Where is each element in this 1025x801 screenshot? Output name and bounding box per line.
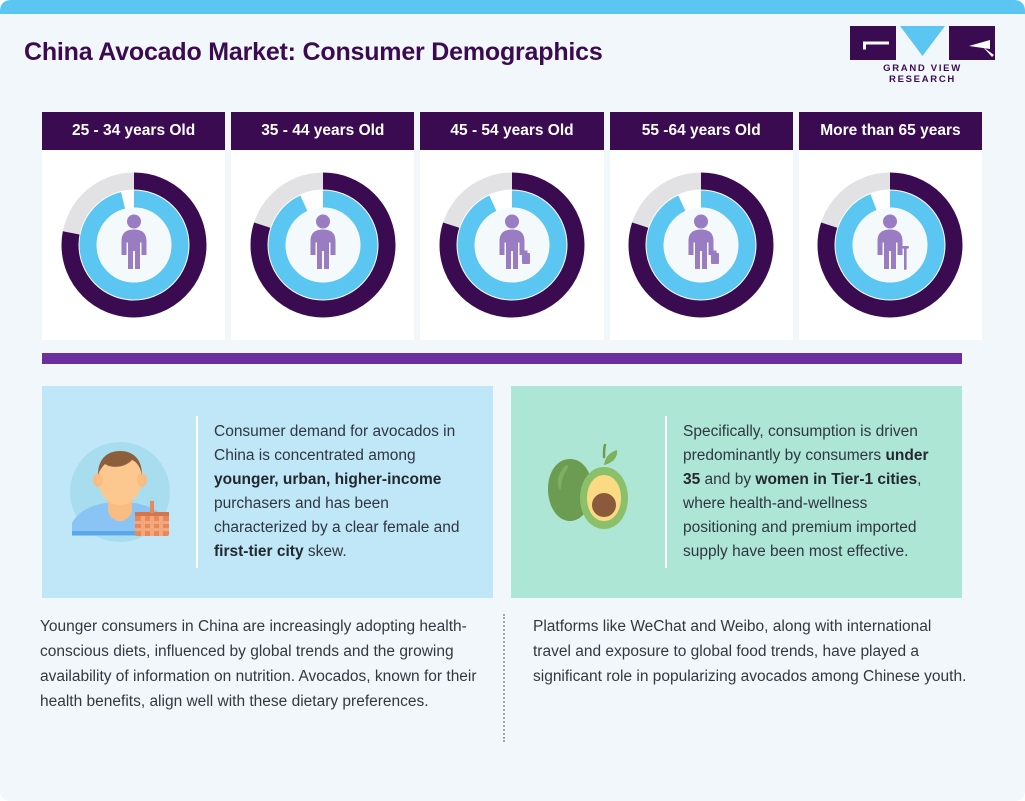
callout-text-consumer-demand: Consumer demand for avocados in China is… xyxy=(214,420,475,564)
section-divider-bar xyxy=(42,353,962,364)
donut-card-5: More than 65 years xyxy=(799,112,982,340)
bottom-notes: Younger consumers in China are increasin… xyxy=(40,614,970,764)
donut-card-label-5: More than 65 years xyxy=(799,112,982,150)
donut-card-label-1: 25 - 34 years Old xyxy=(42,112,225,150)
donut-chart-3 xyxy=(420,150,603,340)
donut-card-1: 25 - 34 years Old xyxy=(42,112,225,340)
gvr-logo-icon xyxy=(850,26,995,60)
infographic-page: China Avocado Market: Consumer Demograph… xyxy=(0,0,1025,801)
donut-card-label-2: 35 - 44 years Old xyxy=(231,112,414,150)
callout-card-consumption-drivers: Specifically, consumption is driven pred… xyxy=(511,386,962,598)
shopper-avatar-icon xyxy=(60,432,180,552)
donut-card-label-3: 45 - 54 years Old xyxy=(420,112,603,150)
page-title: China Avocado Market: Consumer Demograph… xyxy=(24,38,603,67)
callout-cards: Consumer demand for avocados in China is… xyxy=(42,386,962,598)
donut-cards-row: 25 - 34 years Old 35 - 44 years Old xyxy=(42,112,982,340)
donut-chart-5 xyxy=(799,150,982,340)
donut-card-2: 35 - 44 years Old xyxy=(231,112,414,340)
avocado-icon xyxy=(529,432,649,552)
top-accent-bar xyxy=(0,0,1025,14)
donut-card-label-4: 55 -64 years Old xyxy=(610,112,793,150)
logo-text: GRAND VIEW RESEARCH xyxy=(850,63,995,85)
donut-card-4: 55 -64 years Old xyxy=(610,112,793,340)
donut-chart-1 xyxy=(42,150,225,340)
bottom-note-left: Younger consumers in China are increasin… xyxy=(40,614,503,764)
donut-chart-4 xyxy=(610,150,793,340)
callout-rule xyxy=(196,416,198,568)
callout-text-consumption-drivers: Specifically, consumption is driven pred… xyxy=(683,420,944,564)
callout-card-consumer-demand: Consumer demand for avocados in China is… xyxy=(42,386,493,598)
header: China Avocado Market: Consumer Demograph… xyxy=(0,14,1025,100)
brand-logo: GRAND VIEW RESEARCH xyxy=(850,26,995,82)
bottom-note-right: Platforms like WeChat and Weibo, along w… xyxy=(505,614,970,764)
callout-rule xyxy=(665,416,667,568)
donut-card-3: 45 - 54 years Old xyxy=(420,112,603,340)
donut-chart-2 xyxy=(231,150,414,340)
